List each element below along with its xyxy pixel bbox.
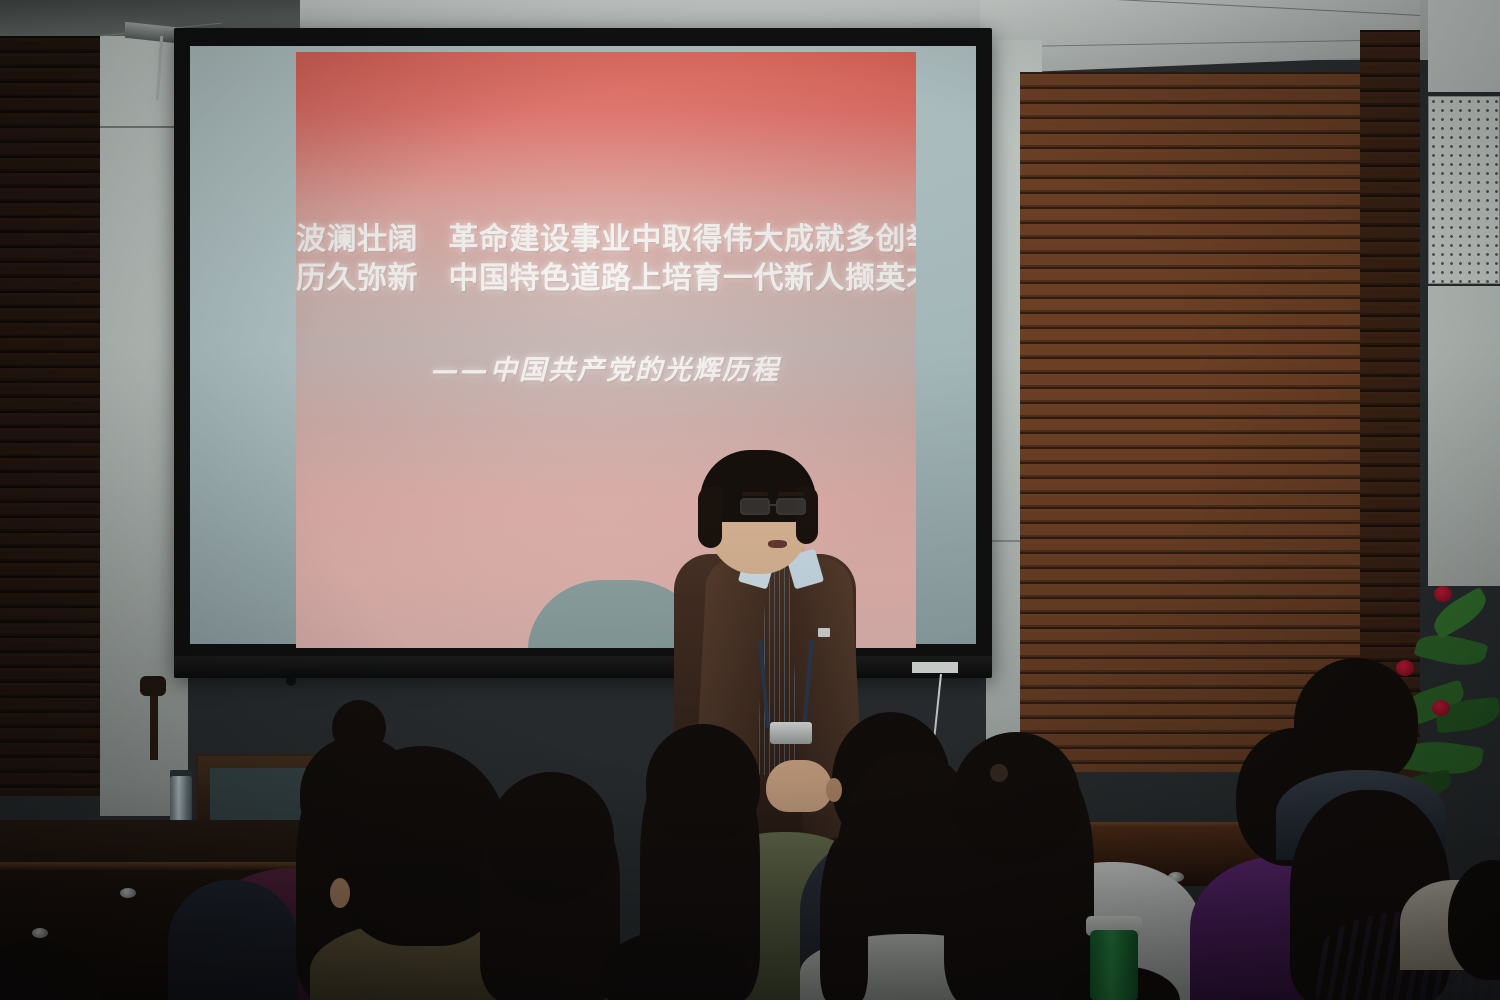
audience-hair-tie: [990, 764, 1008, 782]
desk-fitting: [32, 928, 48, 938]
wall-panel-below-perforated: [1428, 286, 1500, 586]
glasses-lens-right: [776, 498, 806, 515]
plant-flower: [1396, 660, 1414, 676]
green-sports-bottle: [1090, 930, 1138, 1000]
plant-flower: [1434, 586, 1452, 602]
projection-screen-frame: 波澜壮阔 革命建设事业中取得伟大成就多创举 历久弥新 中国特色道路上培育一代新人…: [174, 28, 992, 676]
speaker-pocket-button: [818, 628, 830, 637]
lecture-hall-photo: 波澜壮阔 革命建设事业中取得伟大成就多创举 历久弥新 中国特色道路上培育一代新人…: [0, 0, 1500, 1000]
speaker-eyebrow-left: [742, 492, 768, 496]
audience-head: [488, 772, 614, 902]
audience-head: [1294, 658, 1418, 786]
audience-hair-bun: [332, 700, 386, 756]
slide-title-line-1: 波澜壮阔 革命建设事业中取得伟大成就多创举: [296, 220, 916, 259]
speaker-id-badge: [770, 722, 812, 744]
wood-slat-wall-left: [0, 36, 100, 796]
audience-jacket: [168, 880, 298, 1000]
slide-title-line-2: 历久弥新 中国特色道路上培育一代新人撷英才: [296, 259, 916, 298]
screen-roller-bar: [174, 656, 992, 678]
speaker-clasped-hands: [766, 760, 832, 812]
slide-text-block: 波澜壮阔 革命建设事业中取得伟大成就多创举 历久弥新 中国特色道路上培育一代新人…: [296, 220, 916, 387]
audience-ear: [330, 878, 350, 908]
speaker-mouth: [768, 540, 787, 548]
plant-leaf: [1414, 628, 1489, 672]
podium-mic-post: [150, 690, 158, 760]
speaker-eyebrow-right: [778, 492, 804, 496]
screen-hook: [286, 676, 296, 686]
desk-fitting: [120, 888, 136, 898]
screen-brand-label: [912, 662, 958, 673]
plant-flower: [1432, 700, 1450, 716]
slide-subtitle: ——中国共产党的光辉历程: [296, 348, 916, 387]
audience-hair-pigtail-left: [820, 836, 868, 1000]
audience-head: [646, 724, 760, 842]
podium-mic-head: [140, 676, 166, 696]
perforated-acoustic-panel: [1428, 96, 1500, 284]
audience-ear: [826, 778, 842, 802]
speaker-sideburn-left: [698, 486, 722, 548]
audience-head: [952, 732, 1080, 862]
glasses-icon: [740, 498, 770, 515]
wall-panel-above-perforated: [1428, 0, 1500, 92]
glasses-bridge: [769, 504, 778, 506]
projection-screen-surface: 波澜壮阔 革命建设事业中取得伟大成就多创举 历久弥新 中国特色道路上培育一代新人…: [190, 46, 976, 644]
